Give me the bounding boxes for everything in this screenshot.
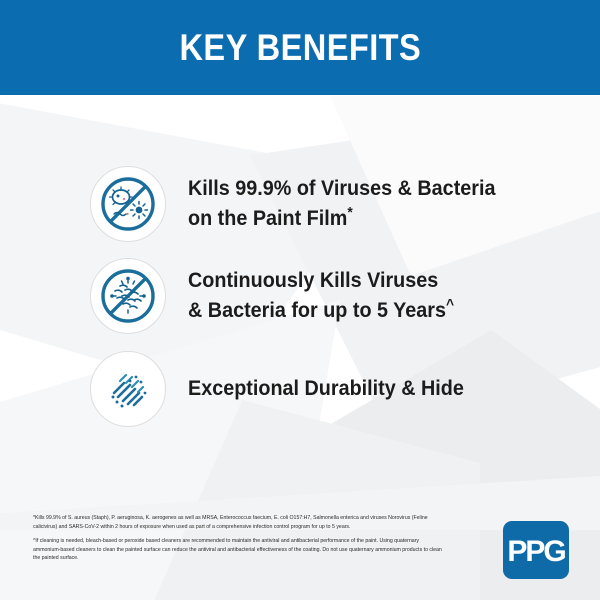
no-germs-bacteria-icon [90,166,166,242]
footnote-caret: ^If cleaning is needed, bleach-based or … [33,537,443,563]
benefit-line-2: on the Paint Film [188,206,347,230]
benefit-label: Exceptional Durability & Hide [188,375,464,403]
benefit-item: Continuously Kills Viruses & Bacteria fo… [90,258,477,334]
benefit-line-2: & Bacteria for up to 5 Years [188,298,446,322]
benefit-item: Exceptional Durability & Hide [90,351,488,427]
benefit-label: Kills 99.9% of Viruses & Bacteria on the… [188,175,495,232]
benefit-item: Kills 99.9% of Viruses & Bacteria on the… [90,166,522,242]
benefit-line-1: Continuously Kills Viruses [188,268,438,292]
benefit-line-1: Kills 99.9% of Viruses & Bacteria [188,176,495,200]
footnote-marker: ^ [446,296,454,313]
footnote-marker: * [347,204,352,221]
key-benefits-infographic: KEY BENEFITS [0,0,600,600]
benefit-label: Continuously Kills Viruses & Bacteria fo… [188,267,454,324]
ppg-logo: PPG [503,521,569,579]
paint-strokes-durability-icon [90,351,166,427]
no-virus-continuous-icon [90,258,166,334]
page-title: KEY BENEFITS [179,27,421,69]
footnote-asterisk: *Kills 99.9% of S. aureus (Staph), P. ae… [33,514,443,531]
header-banner: KEY BENEFITS [0,0,600,95]
footnotes-block: *Kills 99.9% of S. aureus (Staph), P. ae… [33,514,443,563]
benefit-line-1: Exceptional Durability & Hide [188,376,464,400]
svg-text:PPG: PPG [507,535,565,568]
